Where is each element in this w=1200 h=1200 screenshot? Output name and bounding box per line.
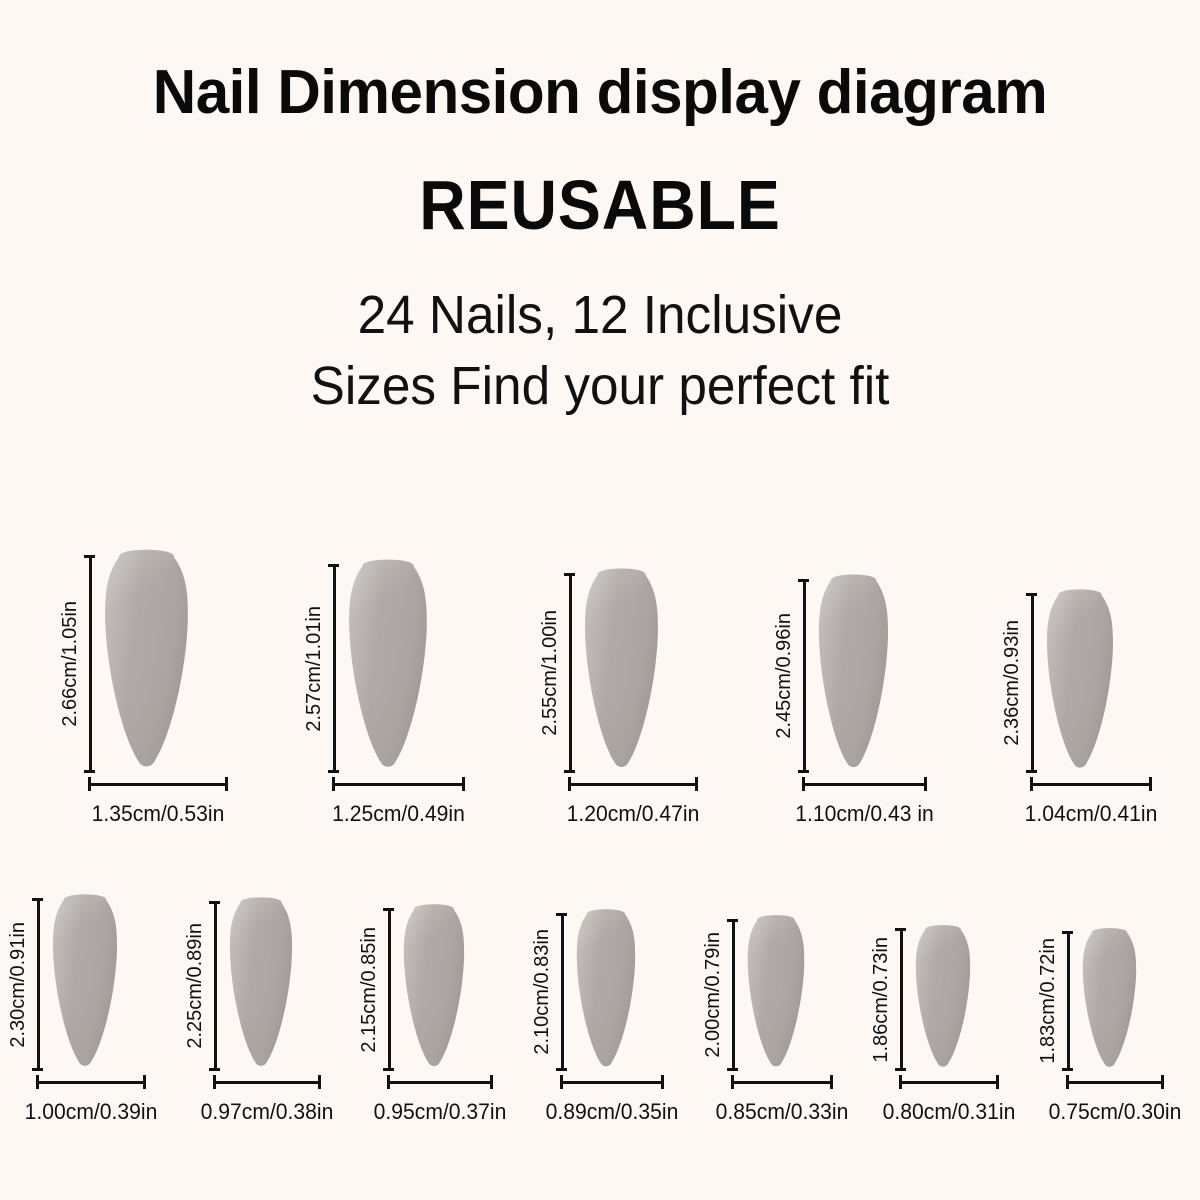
vertical-dimension-line <box>32 898 43 1071</box>
subtitle-reusable: REUSABLE <box>48 124 1152 240</box>
dimension-endcap-left <box>332 777 335 791</box>
nail-row-2: 2.30cm/0.91in 1.00cm/0.39in2.25cm/0.89in <box>8 893 1192 1123</box>
nail-shape <box>348 558 428 773</box>
nail-length-label: 2.45cm/0.96in <box>774 613 794 739</box>
nail-width-label: 1.25cm/0.49in <box>307 803 488 825</box>
nail-graphic <box>1046 588 1114 773</box>
nail-width-label: 0.97cm/0.38in <box>188 1101 345 1123</box>
nail-size-item: 2.36cm/0.93in 1.04cm/0.41in <box>1002 588 1180 825</box>
dimension-endcap-bottom <box>209 1068 220 1071</box>
nail-row-1: 2.66cm/1.05in 1.35cm/0.53in2.57cm/1.01in <box>60 548 1180 825</box>
nail-length-label: 1.83cm/0.72in <box>1038 938 1058 1064</box>
dimension-endcap-right <box>1161 1075 1164 1089</box>
nail-graphic <box>52 893 118 1071</box>
tagline: 24 Nails, 12 Inclusive Sizes Find your p… <box>30 240 1170 423</box>
nail-shape <box>576 908 636 1071</box>
dimension-endcap-top <box>895 928 906 931</box>
dimension-endcap-bottom <box>84 770 95 773</box>
nail-length-label: 1.86cm/0.73in <box>871 937 891 1063</box>
nail-upper-group: 1.83cm/0.72in <box>1038 927 1137 1071</box>
nail-upper-group: 2.15cm/0.85in <box>359 903 465 1071</box>
nail-length-label: 2.25cm/0.89in <box>185 923 205 1049</box>
dimension-endcap-left <box>1066 1075 1069 1089</box>
nail-size-item: 1.86cm/0.73in 0.80cm/0.31in <box>871 924 1027 1123</box>
vertical-dimension-line <box>556 913 567 1071</box>
nail-width-label: 1.35cm/0.53in <box>64 803 252 825</box>
dimension-endcap-bottom <box>328 770 339 773</box>
dimension-endcap-top <box>1062 931 1073 934</box>
nail-upper-group: 2.36cm/0.93in <box>1002 588 1114 773</box>
dimension-endcap-right <box>225 777 228 791</box>
dimension-endcap-left <box>88 777 91 791</box>
nail-shape <box>229 896 293 1071</box>
dimension-endcap-bottom <box>383 1068 394 1071</box>
dimension-endcap-left <box>36 1075 39 1089</box>
nail-size-item: 2.55cm/1.00in 1.20cm/0.47in <box>540 567 726 825</box>
horizontal-dimension-line <box>560 1075 664 1089</box>
horizontal-dimension-line <box>731 1075 833 1089</box>
nail-shape <box>584 567 659 773</box>
nail-upper-group: 2.10cm/0.83in <box>532 908 636 1071</box>
dimension-endcap-right <box>143 1075 146 1089</box>
horizontal-dimension-line <box>899 1075 999 1089</box>
nail-width-label: 1.00cm/0.39in <box>11 1101 170 1123</box>
nail-length-label: 2.36cm/0.93in <box>1002 620 1022 746</box>
dimension-endcap-right <box>695 777 698 791</box>
nail-length-label: 2.57cm/1.01in <box>304 606 324 732</box>
nail-shape <box>1046 588 1114 773</box>
horizontal-dimension-line <box>1066 1075 1164 1089</box>
vertical-dimension: 2.30cm/0.91in <box>8 898 43 1071</box>
dimension-endcap-right <box>830 1075 833 1089</box>
nail-size-item: 2.10cm/0.83in 0.89cm/0.35in <box>532 908 692 1123</box>
dimension-endcap-left <box>899 1075 902 1089</box>
nail-width-label: 0.80cm/0.31in <box>874 1101 1024 1123</box>
dimension-endcap-left <box>568 777 571 791</box>
nail-graphic <box>1082 927 1137 1071</box>
nail-width-label: 1.04cm/0.41in <box>1006 803 1177 825</box>
nail-width-label: 1.20cm/0.47in <box>544 803 723 825</box>
nail-length-label: 2.30cm/0.91in <box>8 922 28 1048</box>
nail-width-label: 0.85cm/0.33in <box>706 1101 858 1123</box>
dimension-endcap-bottom <box>1026 770 1037 773</box>
nail-upper-group: 2.30cm/0.91in <box>8 893 118 1071</box>
vertical-dimension-line <box>564 573 575 773</box>
dimension-endcap-right <box>996 1075 999 1089</box>
vertical-dimension-line <box>383 908 394 1071</box>
nail-size-item: 2.45cm/0.96in 1.10cm/0.43 in <box>774 573 955 825</box>
horizontal-dimension-line <box>332 777 465 791</box>
nail-size-item: 2.57cm/1.01in 1.25cm/0.49in <box>304 558 493 825</box>
dimension-endcap-bottom <box>564 770 575 773</box>
nail-length-label: 2.10cm/0.83in <box>532 929 552 1055</box>
vertical-dimension: 2.57cm/1.01in <box>304 564 339 773</box>
nail-shape <box>52 893 118 1071</box>
vertical-dimension: 2.10cm/0.83in <box>532 913 567 1071</box>
dimension-endcap-top <box>383 908 394 911</box>
dimension-endcap-left <box>387 1075 390 1089</box>
dimension-endcap-bottom <box>798 770 809 773</box>
vertical-dimension-line <box>209 901 220 1071</box>
nail-size-item: 2.25cm/0.89in 0.97cm/0.38in <box>185 896 349 1123</box>
dimension-endcap-bottom <box>895 1068 906 1071</box>
nail-shape <box>747 914 805 1071</box>
dimension-endcap-bottom <box>556 1068 567 1071</box>
horizontal-dimension-line <box>568 777 698 791</box>
nail-graphic <box>576 908 636 1071</box>
nail-graphic <box>747 914 805 1071</box>
dimension-endcap-top <box>564 573 575 576</box>
horizontal-dimension-line <box>387 1075 493 1089</box>
dimension-endcap-right <box>1149 777 1152 791</box>
vertical-dimension: 2.25cm/0.89in <box>185 901 220 1071</box>
vertical-dimension: 1.83cm/0.72in <box>1038 931 1073 1071</box>
dimension-endcap-top <box>84 555 95 558</box>
nail-graphic <box>229 896 293 1071</box>
nail-length-label: 2.66cm/1.05in <box>60 601 80 727</box>
nail-length-label: 2.00cm/0.79in <box>703 932 723 1058</box>
dimension-endcap-bottom <box>727 1068 738 1071</box>
dimension-endcap-top <box>32 898 43 901</box>
horizontal-dimension-line <box>1030 777 1152 791</box>
dimension-endcap-right <box>661 1075 664 1089</box>
dimension-endcap-left <box>1030 777 1033 791</box>
vertical-dimension: 2.15cm/0.85in <box>359 908 394 1071</box>
nail-width-label: 0.89cm/0.35in <box>535 1101 689 1123</box>
nail-width-label: 1.10cm/0.43 in <box>777 803 951 825</box>
nail-upper-group: 2.00cm/0.79in <box>703 914 805 1071</box>
dimension-endcap-bottom <box>32 1068 43 1071</box>
nail-width-label: 0.75cm/0.30in <box>1041 1101 1189 1123</box>
dimension-endcap-top <box>556 913 567 916</box>
nail-shape <box>403 903 465 1071</box>
horizontal-dimension-line <box>213 1075 321 1089</box>
nail-shape <box>104 548 189 773</box>
vertical-dimension: 2.36cm/0.93in <box>1002 593 1037 773</box>
vertical-dimension-line <box>727 919 738 1071</box>
vertical-dimension: 1.86cm/0.73in <box>871 928 906 1071</box>
dimension-endcap-right <box>462 777 465 791</box>
dimension-endcap-top <box>209 901 220 904</box>
dimension-endcap-right <box>318 1075 321 1089</box>
nail-size-item: 1.83cm/0.72in 0.75cm/0.30in <box>1038 927 1192 1123</box>
dimension-endcap-top <box>1026 593 1037 596</box>
nail-size-item: 2.00cm/0.79in 0.85cm/0.33in <box>703 914 861 1123</box>
nail-size-item: 2.30cm/0.91in 1.00cm/0.39in <box>8 893 174 1123</box>
nail-dimension-diagram: Nail Dimension display diagram REUSABLE … <box>0 0 1200 1200</box>
nail-shape <box>1082 927 1137 1071</box>
vertical-dimension: 2.66cm/1.05in <box>60 555 95 773</box>
nail-upper-group: 2.57cm/1.01in <box>304 558 428 773</box>
dimension-endcap-bottom <box>1062 1068 1073 1071</box>
horizontal-dimension-line <box>88 777 228 791</box>
dimension-endcap-left <box>802 777 805 791</box>
nail-upper-group: 2.55cm/1.00in <box>540 567 659 773</box>
nail-length-label: 2.55cm/1.00in <box>540 610 560 736</box>
vertical-dimension-line <box>328 564 339 773</box>
tagline-line-2: Sizes Find your perfect fit <box>30 351 1170 422</box>
dimension-endcap-top <box>328 564 339 567</box>
nail-upper-group: 2.45cm/0.96in <box>774 573 889 773</box>
dimension-endcap-right <box>490 1075 493 1089</box>
nail-graphic <box>818 573 889 773</box>
dimension-endcap-right <box>924 777 927 791</box>
nail-graphic <box>104 548 189 773</box>
vertical-dimension-line <box>798 579 809 773</box>
nail-shape <box>818 573 889 773</box>
vertical-dimension: 2.55cm/1.00in <box>540 573 575 773</box>
page-title: Nail Dimension display diagram <box>18 0 1182 124</box>
vertical-dimension: 2.00cm/0.79in <box>703 919 738 1071</box>
nail-graphic <box>584 567 659 773</box>
vertical-dimension-line <box>84 555 95 773</box>
dimension-endcap-left <box>213 1075 216 1089</box>
horizontal-dimension-line <box>36 1075 146 1089</box>
nail-upper-group: 2.25cm/0.89in <box>185 896 293 1071</box>
nail-length-label: 2.15cm/0.85in <box>359 927 379 1053</box>
vertical-dimension-line <box>1026 593 1037 773</box>
dimension-endcap-top <box>798 579 809 582</box>
nail-shape <box>915 924 971 1071</box>
header: Nail Dimension display diagram REUSABLE … <box>0 0 1200 423</box>
vertical-dimension-line <box>1062 931 1073 1071</box>
dimension-endcap-left <box>731 1075 734 1089</box>
vertical-dimension: 2.45cm/0.96in <box>774 579 809 773</box>
nail-graphic <box>348 558 428 773</box>
horizontal-dimension-line <box>802 777 927 791</box>
dimension-endcap-top <box>727 919 738 922</box>
nail-upper-group: 1.86cm/0.73in <box>871 924 971 1071</box>
nail-graphic <box>403 903 465 1071</box>
nail-size-item: 2.15cm/0.85in 0.95cm/0.37in <box>359 903 521 1123</box>
nail-width-label: 0.95cm/0.37in <box>363 1101 519 1123</box>
vertical-dimension-line <box>895 928 906 1071</box>
nail-graphic <box>915 924 971 1071</box>
nail-size-item: 2.66cm/1.05in 1.35cm/0.53in <box>60 548 256 825</box>
dimension-endcap-left <box>560 1075 563 1089</box>
nail-upper-group: 2.66cm/1.05in <box>60 548 189 773</box>
tagline-line-1: 24 Nails, 12 Inclusive <box>30 280 1170 351</box>
